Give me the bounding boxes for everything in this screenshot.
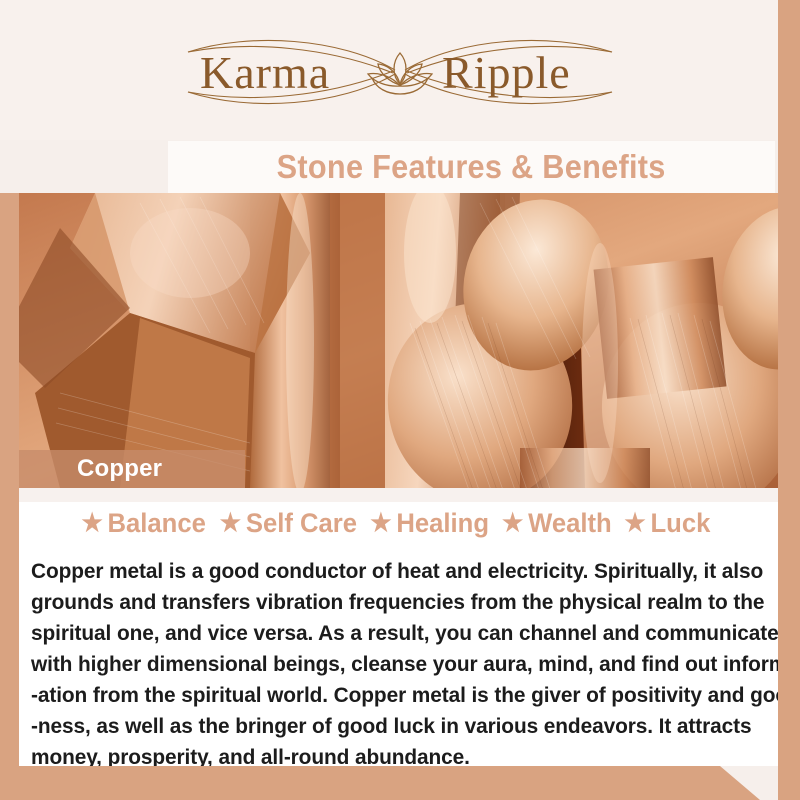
content-panel: ★ Balance ★ Self Care ★ Healing ★ Wealth…: [19, 488, 778, 766]
panel-top-tint: [19, 488, 778, 502]
benefit-item: ★ Balance: [81, 508, 212, 539]
brand-name-left: Karma: [200, 47, 330, 98]
benefit-label: Luck: [650, 508, 710, 539]
description-line: -ation from the spiritual world. Copper …: [31, 680, 749, 711]
description-line: with higher dimensional beings, cleanse …: [31, 649, 749, 680]
description-line: Copper metal is a good conductor of heat…: [31, 556, 749, 587]
hero-image: [0, 193, 800, 488]
description-text: Copper metal is a good conductor of heat…: [31, 556, 749, 773]
star-icon: ★: [371, 511, 392, 536]
benefits-row: ★ Balance ★ Self Care ★ Healing ★ Wealth…: [19, 508, 778, 539]
star-icon: ★: [81, 511, 102, 536]
star-icon: ★: [624, 511, 645, 536]
benefit-item: ★ Wealth: [502, 508, 618, 539]
section-title-band: Stone Features & Benefits: [168, 141, 775, 193]
page-title: Stone Features & Benefits: [277, 148, 666, 186]
stone-name-tag: Copper: [19, 450, 245, 488]
lotus-icon: [368, 53, 432, 94]
benefit-item: ★ Healing: [371, 508, 496, 539]
benefit-item: ★ Luck: [624, 508, 717, 539]
benefit-label: Balance: [107, 508, 205, 539]
right-frame-strip: [778, 0, 800, 800]
bottom-frame-band: [0, 766, 800, 800]
header-bar: Karma Ripple: [0, 0, 800, 140]
star-icon: ★: [220, 511, 241, 536]
infographic-card: Karma Ripple Stone Features & Benefits: [0, 0, 800, 800]
star-icon: ★: [502, 511, 523, 536]
brand-name-right: Ripple: [442, 47, 571, 98]
benefit-label: Wealth: [528, 508, 612, 539]
description-line: spiritual one, and vice versa. As a resu…: [31, 618, 749, 649]
benefit-label: Healing: [397, 508, 490, 539]
left-frame-strip: [0, 193, 19, 800]
description-line: grounds and transfers vibration frequenc…: [31, 587, 749, 618]
description-line: -ness, as well as the bringer of good lu…: [31, 711, 749, 742]
brand-logo: Karma Ripple: [180, 26, 620, 118]
benefit-label: Self Care: [246, 508, 357, 539]
stone-name: Copper: [77, 455, 162, 483]
benefit-item: ★ Self Care: [220, 508, 364, 539]
